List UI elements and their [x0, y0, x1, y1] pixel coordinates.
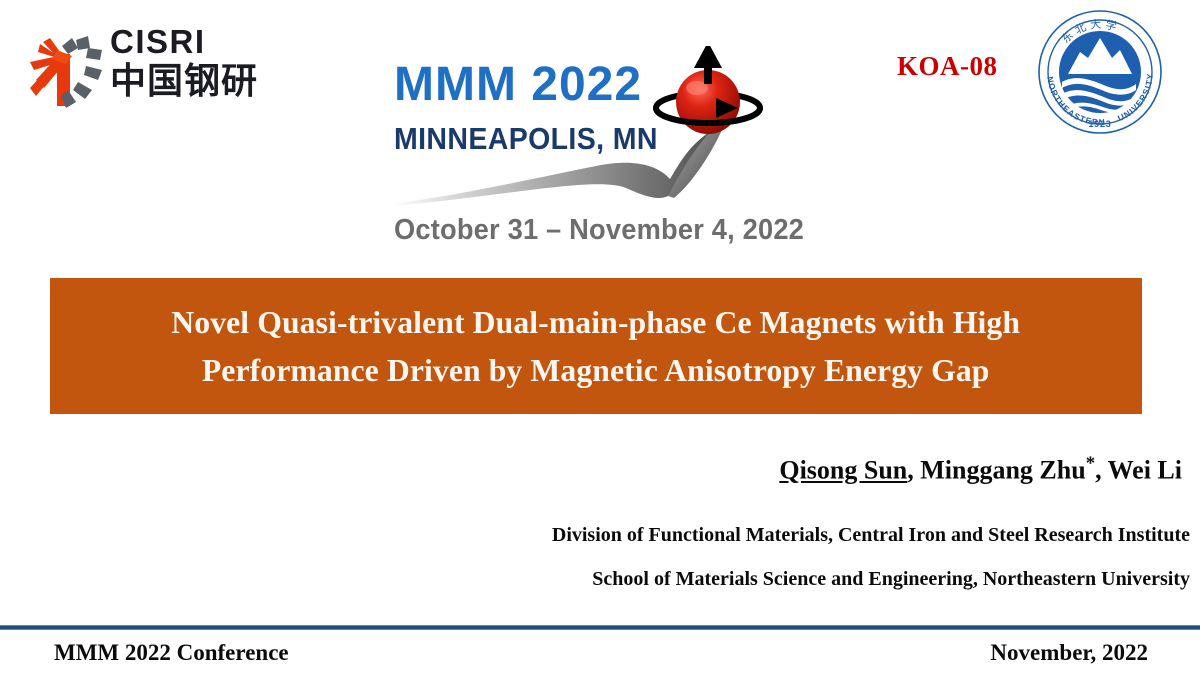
- mmm-title-text: MMM 2022: [394, 60, 642, 110]
- authors-block: Qisong Sun, Minggang Zhu*, Wei Li: [0, 447, 1200, 488]
- cisri-wordmark: CISRI 中国钢研: [110, 24, 290, 116]
- title-banner: Novel Quasi-trivalent Dual-main-phase Ce…: [50, 278, 1142, 414]
- footer-conference-name: MMM 2022 Conference: [54, 640, 289, 666]
- corresponding-author: Minggang Zhu: [920, 456, 1085, 485]
- presenting-author: Qisong Sun: [779, 456, 907, 485]
- footer-date: November, 2022: [990, 640, 1148, 666]
- corresponding-author-marker: *: [1086, 453, 1095, 474]
- affiliation-line-1: Division of Functional Materials, Centra…: [0, 522, 1200, 548]
- mmm-city-text: MINNEAPOLIS, MN: [394, 122, 658, 156]
- page-title: Novel Quasi-trivalent Dual-main-phase Ce…: [172, 298, 1021, 394]
- northeastern-university-seal-icon: 东 北 大 学 NORTHEASTERN UNIVERSITY 1923: [1036, 8, 1164, 136]
- cisri-latin-text: CISRI: [110, 24, 290, 60]
- author-separator-1: ,: [907, 456, 920, 485]
- neu-seal-year: 1923: [1088, 119, 1111, 129]
- affiliation-line-2: School of Materials Science and Engineer…: [0, 566, 1200, 592]
- mmm-2022-logo: MMM 2022 MINNEAPOLIS, MN October 31 – No…: [386, 46, 796, 258]
- author-separator-2: ,: [1095, 456, 1108, 485]
- cisri-pinwheel-icon: [14, 26, 106, 114]
- authors-line: Qisong Sun, Minggang Zhu*, Wei Li: [0, 447, 1182, 488]
- third-author: Wei Li: [1108, 456, 1182, 485]
- mmm-date-text: October 31 – November 4, 2022: [394, 214, 804, 246]
- footer-divider: [0, 625, 1200, 630]
- cisri-logo: CISRI 中国钢研: [14, 22, 286, 118]
- session-code-label: KOA-08: [897, 51, 998, 82]
- cisri-cjk-text: 中国钢研: [110, 60, 290, 104]
